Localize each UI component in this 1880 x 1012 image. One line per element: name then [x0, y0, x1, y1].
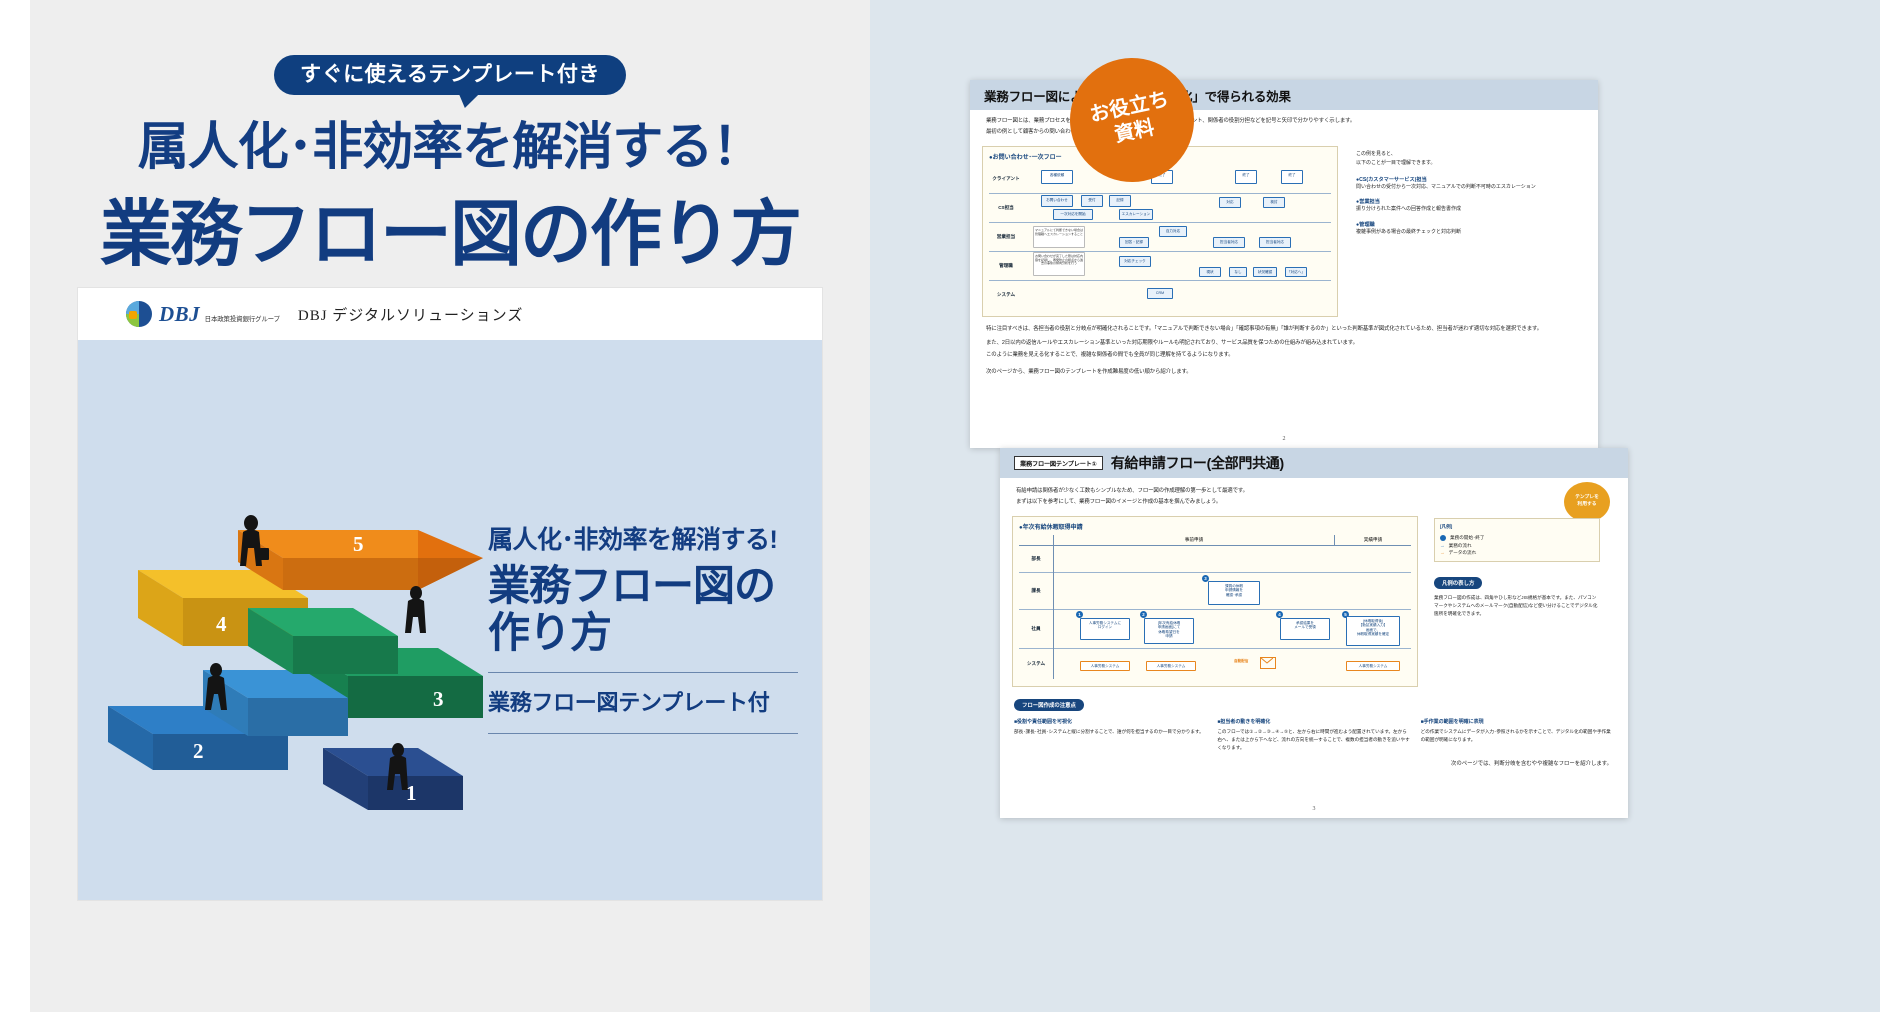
cover-subtitle: 属人化･非効率を解消する! [488, 520, 798, 556]
legend-orange-arrow-icon: → [1440, 549, 1445, 557]
node-owner-2: 担当者対応 [1259, 237, 1291, 248]
doc2-template-tag: 業務フロー図テンプレート① [1014, 456, 1103, 470]
node-status: 現状 [1199, 267, 1221, 277]
legend-note-title: 凡例の表し方 [1434, 577, 1482, 589]
note-manual: マニュアルにて判断できない場合は管理職へエスカレーションすること [1033, 226, 1085, 248]
step-number-1: 1 [406, 781, 417, 805]
node-request: 各種依頼 [1041, 170, 1073, 184]
doc2-row-shain: 1 人事労務システムにログイン 2 [年次有給休暇申請画面]にて休暇希望日を申請… [1054, 610, 1411, 649]
doc2-notes-header: フロー図作成の注意点 [1000, 694, 1628, 712]
legend-dot-icon [1440, 535, 1446, 541]
legend-note-block: 凡例の表し方 業務フロー図の作成は、四角やひし形などJIS規格が基本です。また、… [1434, 572, 1600, 618]
node-none: なし [1229, 267, 1247, 277]
doc2-flow-diagram: ●年次有給休暇取得申請 事前申請 実績申請 部長 課長 社員 [1012, 516, 1418, 687]
legend-note-body: 業務フロー図の作成は、四角やひし形などJIS規格が基本です。また、パソコンマーク… [1434, 594, 1600, 618]
node-system-1: 人事労務システム [1080, 661, 1130, 671]
doc2-page-number: 3 [1000, 806, 1628, 812]
node-owner-1: 担当者対応 [1213, 237, 1245, 248]
doc2-colhead-actual: 実績申請 [1335, 535, 1411, 545]
doc1-page-number: 2 [970, 436, 1598, 442]
lane-label-bucho: 部長 [1019, 546, 1053, 573]
node-end-2: 終了 [1235, 170, 1257, 184]
sidenote-cs-body: 問い合わせの受付から一次対応、マニュアルでの判断不可時のエスカレーション [1356, 183, 1568, 192]
template-ribbon-badge: すぐに使えるテンプレート付き [274, 55, 626, 95]
ribbon-container: すぐに使えるテンプレート付き [30, 55, 870, 95]
lane-label-shain: 社員 [1019, 610, 1053, 649]
doc1-lanes: クライアント CS担当 営業担当 管理職 システム 各種依頼 終了 終 [989, 165, 1331, 309]
legend-label-1: 業務の流れ [1449, 542, 1472, 550]
node-system-3: 人事労務システム [1346, 661, 1400, 671]
node-check: 対応チェック [1119, 256, 1151, 267]
legend-item-flow: → 業務の流れ [1440, 542, 1594, 550]
lane-label-cs: CS担当 [989, 194, 1023, 223]
step-badge-4: 4 [1276, 611, 1283, 618]
cover-template-note: 業務フロー図テンプレート付 [488, 685, 798, 717]
node-receive-mail: 承認結果をメールで受領 [1280, 618, 1330, 640]
doc1-para-5: このように業務を見える化することで、複雑な関係者の間でも全員が同じ理解を持てるよ… [970, 351, 1598, 360]
lane-label-client: クライアント [989, 165, 1023, 194]
doc1-lane-labels: クライアント CS担当 営業担当 管理職 システム [989, 165, 1023, 309]
dbj-logo: DBJ 日本政策投資銀行グループ [126, 301, 280, 327]
lane-label-kacho: 課長 [1019, 573, 1053, 610]
doc1-para-3: 特に注目すべきは、各担当者の役割と分岐点が明確化されることです。「マニュアルで判… [970, 325, 1598, 334]
doc2-lane-area: 3 課員の休暇申請情報を確認･承認 1 人事労務システムにログイン 2 [年次有… [1053, 546, 1411, 679]
lane-label-manager: 管理職 [989, 252, 1023, 281]
step-number-5: 5 [353, 532, 364, 556]
sidenote-manager-head: ●管理職 [1356, 221, 1568, 228]
dbj-logo-text: DBJ [159, 302, 200, 326]
cover-title: 業務フロー図の作り方 [488, 562, 798, 656]
auto-mail-label: 自動配信 [1234, 659, 1248, 664]
doc2-colhead-advance: 事前申請 [1053, 535, 1335, 545]
step-badge-2: 2 [1140, 611, 1147, 618]
sidenote-cs: ●CS(カスタマーサービス)担当 問い合わせの受付から一次対応、マニュアルでの判… [1356, 176, 1568, 192]
legend-item-data: → データの流れ [1440, 549, 1594, 557]
node-answer-record: 回答・記録 [1119, 237, 1149, 248]
doc2-row-system: 人事労務システム 人事労務システム 人事労務システム 自動配信 [1054, 649, 1411, 679]
node-escalation: エスカレーション [1119, 209, 1153, 220]
sidenote-intro-2: 以下のことが一目で理解できます。 [1356, 159, 1568, 168]
note-roles-head: ■役割や責任範囲を可視化 [1014, 718, 1207, 727]
step-badge-1: 1 [1076, 611, 1083, 618]
left-panel: すぐに使えるテンプレート付き 属人化･非効率を解消する！ 業務フロー図の作り方 … [30, 0, 870, 1012]
lane-label-sales: 営業担当 [989, 223, 1023, 252]
doc1-title: 業務フロー図による「業務の見える化」で得られる効果 [970, 80, 1598, 110]
cover-text-block: 属人化･非効率を解消する! 業務フロー図の作り方 業務フロー図テンプレート付 [488, 520, 798, 746]
doc1-intro-1: 業務フロー図とは、業務プロセスを視覚的に表現した図表です。作業の流れ、判断ポイン… [970, 117, 1598, 126]
legend-title: [凡例] [1440, 523, 1594, 531]
cover-body: 4 2 3 1 5 属人化･非効率を解消する! 業務フロー図の作り方 業務フロー… [78, 340, 822, 900]
ebook-cover-card: DBJ 日本政策投資銀行グループ DBJ デジタルソリューションズ [78, 288, 822, 900]
notes-title: フロー図作成の注意点 [1014, 699, 1084, 711]
doc1-row-cs: お問い合わせ 受付 記録 一次対応を開始 エスカレーション 対応 検討 [1023, 194, 1331, 223]
node-review: 検討 [1263, 197, 1285, 208]
sidenote-sales-body: 振り分けられた案件への回答作成と報告書作成 [1356, 205, 1568, 214]
dbj-group-text: 日本政策投資銀行グループ [205, 316, 280, 323]
doc1-intro-2: 最初の例として顧客からの問い合わせ対応業務を可視化したフロー図をご紹介します。 [970, 128, 1598, 137]
doc2-titlebar: 業務フロー図テンプレート① 有給申請フロー(全部門共通) [1000, 448, 1628, 478]
sidenote-sales-head: ●営業担当 [1356, 198, 1568, 205]
node-inquiry: お問い合わせ [1041, 195, 1073, 207]
note-manual-head: ■手作業の範囲を明確に表現 [1421, 718, 1614, 727]
poster-page: すぐに使えるテンプレート付き 属人化･非効率を解消する！ 業務フロー図の作り方 … [0, 0, 1880, 1012]
legend-label-2: データの流れ [1449, 549, 1477, 557]
sidenote-manager: ●管理職 複雑事例がある場合の最終チェックと対応判断 [1356, 221, 1568, 237]
node-self-handle: 自力対応 [1159, 226, 1187, 237]
doc2-legend-column: [凡例] 業務の開始･終了 → 業務の流れ → データの流れ [1430, 508, 1612, 687]
cover-header: DBJ 日本政策投資銀行グループ DBJ デジタルソリューションズ [78, 288, 822, 340]
lane-label-system: システム [1019, 649, 1053, 679]
doc2-lane-labels: 部長 課長 社員 システム [1019, 546, 1053, 679]
node-record: 記録 [1109, 195, 1131, 207]
note-manual-body: どの作業でシステムにデータが入力･参照されるかを示すことで、デジタル化の範囲や手… [1421, 729, 1611, 742]
note-movement-body: このフローでは①→②→③→④→⑤と、左から右に時間が進むよう配置されています。左… [1217, 729, 1409, 750]
document-page-2: 業務フロー図による「業務の見える化」で得られる効果 業務フロー図とは、業務プロセ… [970, 80, 1598, 448]
node-kacho-approve: 課員の休暇申請情報を確認･承認 [1208, 581, 1260, 605]
doc1-para-6: 次のページから、業務フロー図のテンプレートを作成難易度の低い順から紹介します。 [970, 368, 1598, 377]
doc2-title: 有給申請フロー(全部門共通) [1111, 453, 1284, 473]
node-apply: [年次有給休暇申請画面]にて休暇希望日を申請 [1144, 618, 1194, 644]
doc1-para-4: また、2日以内の返信ルールやエスカレーション基準といった対応期限やルールも明記さ… [970, 339, 1598, 348]
mail-icon [1260, 657, 1276, 669]
node-handle: 対応 [1219, 197, 1241, 208]
headline-primary: 属人化･非効率を解消する！ [30, 105, 870, 179]
doc1-row-manager: 対応チェック 現状 なし 状況確認 「対応へ」 マニュアルにて判断できない場合は… [1023, 252, 1331, 281]
doc1-lane-area: 各種依頼 終了 終了 終了 お問い合わせ 受付 記録 一次対応を開始 [1023, 165, 1331, 309]
node-receive: 受付 [1081, 195, 1103, 207]
step-number-4: 4 [216, 612, 227, 636]
headline-secondary: 業務フロー図の作り方 [30, 175, 870, 280]
doc1-row-client: 各種依頼 終了 終了 終了 [1023, 165, 1331, 194]
cover-divider [488, 672, 798, 673]
step-number-3: 3 [433, 687, 444, 711]
node-first-response: 一次対応を開始 [1053, 209, 1093, 220]
doc1-sidenotes: この例を見ると、 以下のことが一目で理解できます。 ●CS(カスタマーサービス)… [1350, 138, 1580, 317]
legend-label-0: 業務の開始･終了 [1450, 534, 1484, 542]
doc2-intro-2: まずは以下を参考にして、業務フロー図のイメージと作成の基本を掴んでみましょう。 [1000, 498, 1628, 507]
note-movement: ■担当者の動きを明確化 このフローでは①→②→③→④→⑤と、左から右に時間が進む… [1217, 718, 1410, 752]
node-end-3: 終了 [1281, 170, 1303, 184]
right-panel: お役立ち 資料 業務フロー図による「業務の見える化」で得られる効果 業務フロー図… [870, 0, 1880, 1012]
doc2-notes-row: ■役割や責任範囲を可視化 部長･課長･社員･システムと縦に分割することで、誰が何… [1000, 718, 1628, 752]
doc2-closing: 次のページでは、判断分岐を含むやや複雑なフローを紹介します。 [1000, 759, 1628, 767]
note-movement-head: ■担当者の動きを明確化 [1217, 718, 1410, 727]
doc2-row-kacho: 3 課員の休暇申請情報を確認･承認 [1054, 573, 1411, 610]
use-template-button[interactable]: テンプレを利用する [1564, 482, 1610, 522]
stairs-illustration: 4 2 3 1 5 [88, 418, 518, 838]
sidenote-cs-head: ●CS(カスタマーサービス)担当 [1356, 176, 1568, 183]
lane-label-system: システム [989, 281, 1023, 309]
legend-blue-arrow-icon: → [1440, 542, 1445, 550]
sidenote-sales: ●営業担当 振り分けられた案件への回答作成と報告書作成 [1356, 198, 1568, 214]
node-login: 人事労務システムにログイン [1080, 618, 1130, 640]
step-number-2: 2 [193, 739, 204, 763]
doc2-lanes: 部長 課長 社員 システム 3 課員の休暇申請情報を確認･承認 [1019, 546, 1411, 679]
node-system-2: 人事労務システム [1146, 661, 1196, 671]
cover-brand-name: DBJ デジタルソリューションズ [298, 304, 524, 325]
doc1-row-system: CRM [1023, 281, 1331, 309]
node-goto: 「対応へ」 [1285, 267, 1307, 277]
sidenote-intro-1: この例を見ると、 [1356, 150, 1568, 159]
node-confirm-actual: (休暇取得後)【勤怠実績入力】画面で、休暇取得実績を確定 [1346, 616, 1400, 646]
doc2-flow-caption: ●年次有給休暇取得申請 [1019, 522, 1411, 531]
dbj-globe-icon [126, 301, 152, 327]
note-manual-scope: ■手作業の範囲を明確に表現 どの作業でシステムにデータが入力･参照されるかを示す… [1421, 718, 1614, 752]
cover-divider-2 [488, 733, 798, 734]
doc2-intro-1: 有給申請は関係者が少なく工数もシンプルなため、フロー図の作成理解の第一歩として最… [1000, 487, 1628, 496]
node-confirm: 状況確認 [1253, 267, 1277, 277]
note-roles-body: 部長･課長･社員･システムと縦に分割することで、誰が何を担当するのか一目で分かり… [1014, 729, 1204, 734]
legend-item-start-end: 業務の開始･終了 [1440, 534, 1594, 542]
note-roles: ■役割や責任範囲を可視化 部長･課長･社員･システムと縦に分割することで、誰が何… [1014, 718, 1207, 752]
legend-box: [凡例] 業務の開始･終了 → 業務の流れ → データの流れ [1434, 518, 1600, 562]
doc2-row-bucho [1054, 546, 1411, 573]
node-crm: CRM [1147, 288, 1173, 299]
note-analysis: お問い合わせが完了した際は対応内容を記録し、再発防止の観点から過去の事象の傾向分… [1033, 252, 1085, 276]
stairs-svg: 4 2 3 1 5 [88, 418, 518, 838]
document-page-3: 業務フロー図テンプレート① 有給申請フロー(全部門共通) テンプレを利用する 有… [1000, 448, 1628, 818]
sidenote-manager-body: 複雑事例がある場合の最終チェックと対応判断 [1356, 228, 1568, 237]
